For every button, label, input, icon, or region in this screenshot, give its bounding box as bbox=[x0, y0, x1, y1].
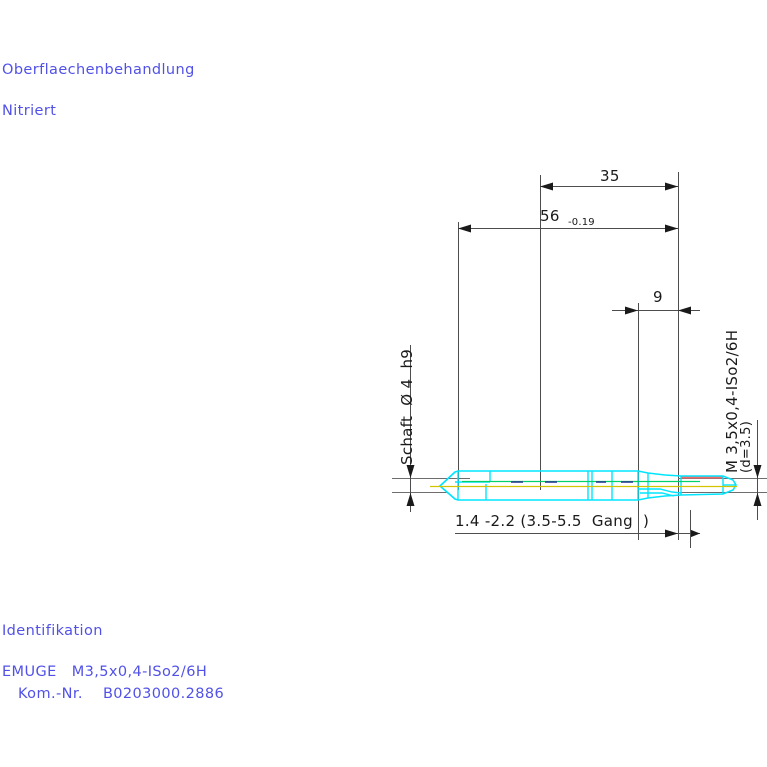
identification-designation: EMUGE M3,5x0,4-ISo2/6H bbox=[2, 665, 207, 680]
identification-heading: Identifikation bbox=[2, 624, 103, 639]
drawing-sheet: Oberflaechenbehandlung Nitriert Identifi… bbox=[0, 0, 767, 767]
surface-treatment-heading: Oberflaechenbehandlung bbox=[2, 63, 195, 78]
surface-treatment-value: Nitriert bbox=[2, 104, 56, 119]
dimension-label-56: 56 bbox=[540, 207, 560, 225]
tap-tool-geometry bbox=[430, 471, 737, 500]
dimension-label-9: 9 bbox=[653, 288, 663, 306]
identification-order-number: Kom.-Nr. B0203000.2886 bbox=[18, 687, 224, 702]
dimension-tolerance-56: -0.19 bbox=[568, 217, 595, 228]
dimension-label-thread-diameter: (d=3.5) bbox=[739, 421, 754, 473]
dimension-line-9 bbox=[612, 307, 700, 315]
dimension-line-shank-diameter bbox=[407, 462, 415, 512]
dimension-label-35: 35 bbox=[600, 167, 620, 185]
dimension-line-thread-diameter bbox=[754, 420, 762, 520]
dimension-label-shank: Schaft Ø 4 h9 bbox=[398, 349, 416, 465]
dimension-label-chamfer: 1.4 -2.2 (3.5-5.5 Gang ) bbox=[455, 512, 649, 530]
axis-reference-lines bbox=[392, 479, 767, 493]
technical-drawing-canvas bbox=[0, 0, 767, 767]
